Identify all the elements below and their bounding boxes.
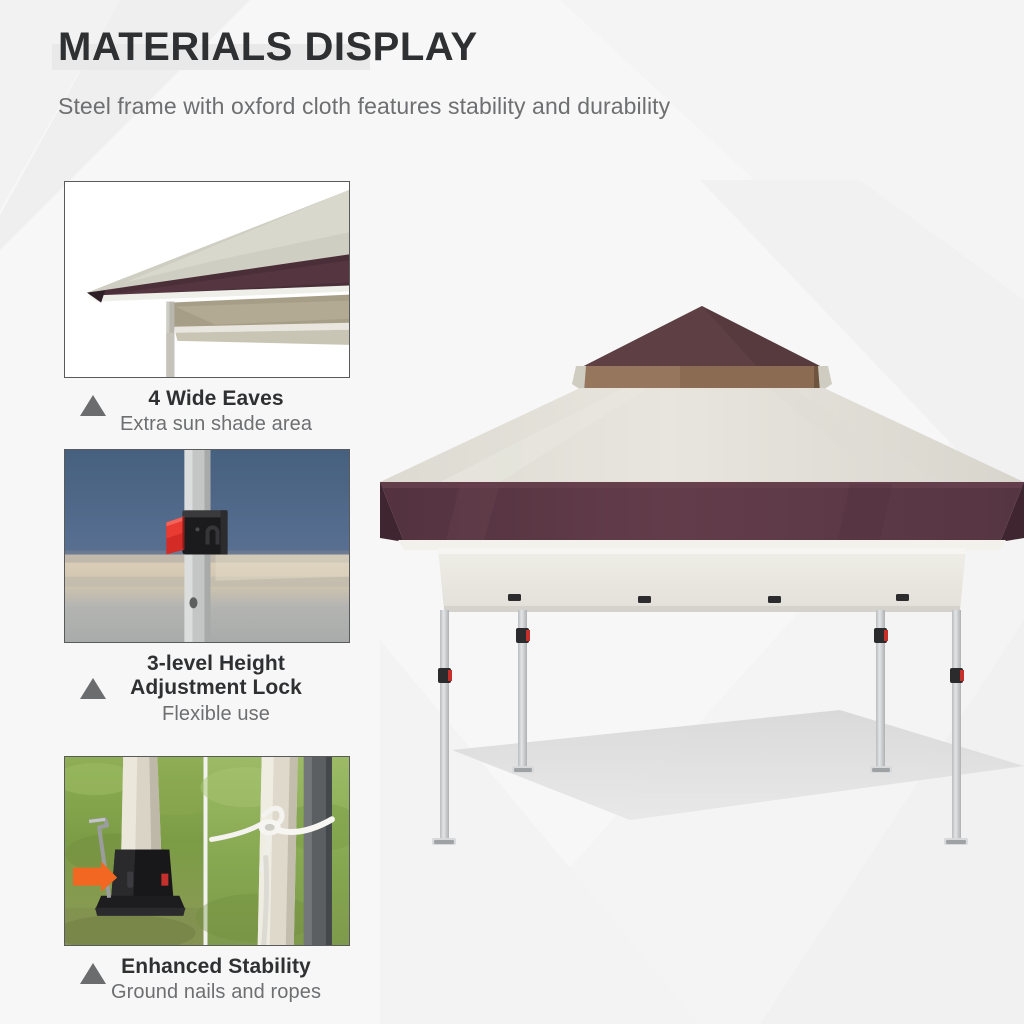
feature-caption-height-lock: 3-level Height Adjustment Lock Flexible …: [64, 652, 350, 726]
page-title: MATERIALS DISPLAY: [58, 26, 478, 68]
feature-card-height-lock[interactable]: 3-level Height Adjustment Lock Flexible …: [64, 449, 350, 726]
feature-caption-stability: Enhanced Stability Ground nails and rope…: [64, 955, 350, 1004]
triangle-marker-icon: [80, 678, 106, 699]
feature-caption-wide-eaves: 4 Wide Eaves Extra sun shade area: [64, 387, 350, 436]
feature-title-line2: Adjustment Lock: [82, 676, 350, 700]
page-header: MATERIALS DISPLAY Steel frame with oxfor…: [58, 26, 670, 120]
triangle-marker-icon: [80, 395, 106, 416]
feature-title: Enhanced Stability: [82, 955, 350, 979]
feature-title: 3-level Height: [82, 652, 350, 676]
feature-subtitle: Ground nails and ropes: [82, 980, 350, 1004]
feature-photo-height-lock: [64, 449, 350, 643]
triangle-marker-icon: [80, 963, 106, 984]
feature-card-stability[interactable]: Enhanced Stability Ground nails and rope…: [64, 756, 350, 1004]
page-subtitle: Steel frame with oxford cloth features s…: [58, 93, 670, 120]
feature-title: 4 Wide Eaves: [82, 387, 350, 411]
product-image-gazebo: [380, 170, 1024, 890]
feature-photo-wide-eaves: [64, 181, 350, 378]
feature-card-wide-eaves[interactable]: 4 Wide Eaves Extra sun shade area: [64, 181, 350, 436]
feature-subtitle: Flexible use: [82, 702, 350, 726]
feature-photo-stability: [64, 756, 350, 946]
feature-subtitle: Extra sun shade area: [82, 412, 350, 436]
page-title-wrap: MATERIALS DISPLAY: [58, 26, 478, 68]
